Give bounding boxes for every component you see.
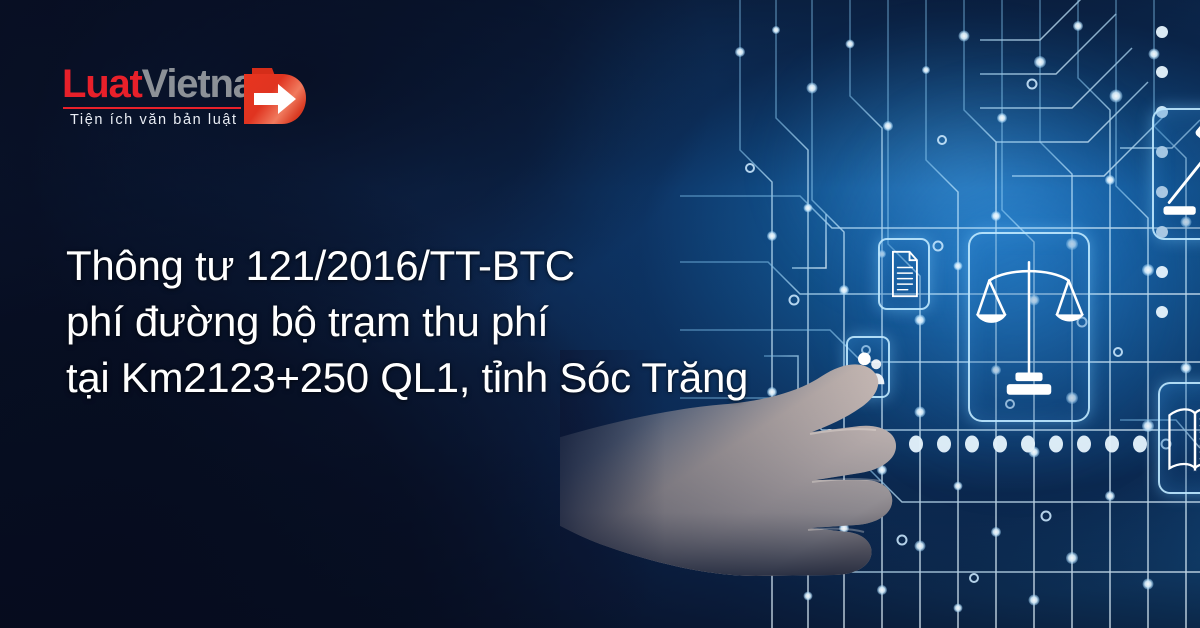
page-title: Thông tư 121/2016/TT-BTC phí đường bộ tr… (66, 238, 866, 406)
headline-line-2: phí đường bộ trạm thu phí (66, 294, 866, 350)
headline-line-3: tại Km2123+250 QL1, tỉnh Sóc Trăng (66, 350, 866, 406)
logo-tagline: Tiện ích văn bản luật (70, 112, 238, 128)
red-folder-arrow-icon (238, 60, 312, 132)
luatvietnam-logo[interactable]: LuatVietnam Tiện ích văn bản luật (62, 58, 312, 140)
logo-underline-rule (63, 107, 241, 109)
open-book-icon (1158, 382, 1200, 494)
headline-line-1: Thông tư 121/2016/TT-BTC (66, 238, 866, 294)
document-icon (878, 238, 930, 310)
banner: LuatVietnam Tiện ích văn bản luật (0, 0, 1200, 628)
logo-word-luat: Luat (62, 62, 142, 106)
gavel-icon (1152, 108, 1200, 240)
